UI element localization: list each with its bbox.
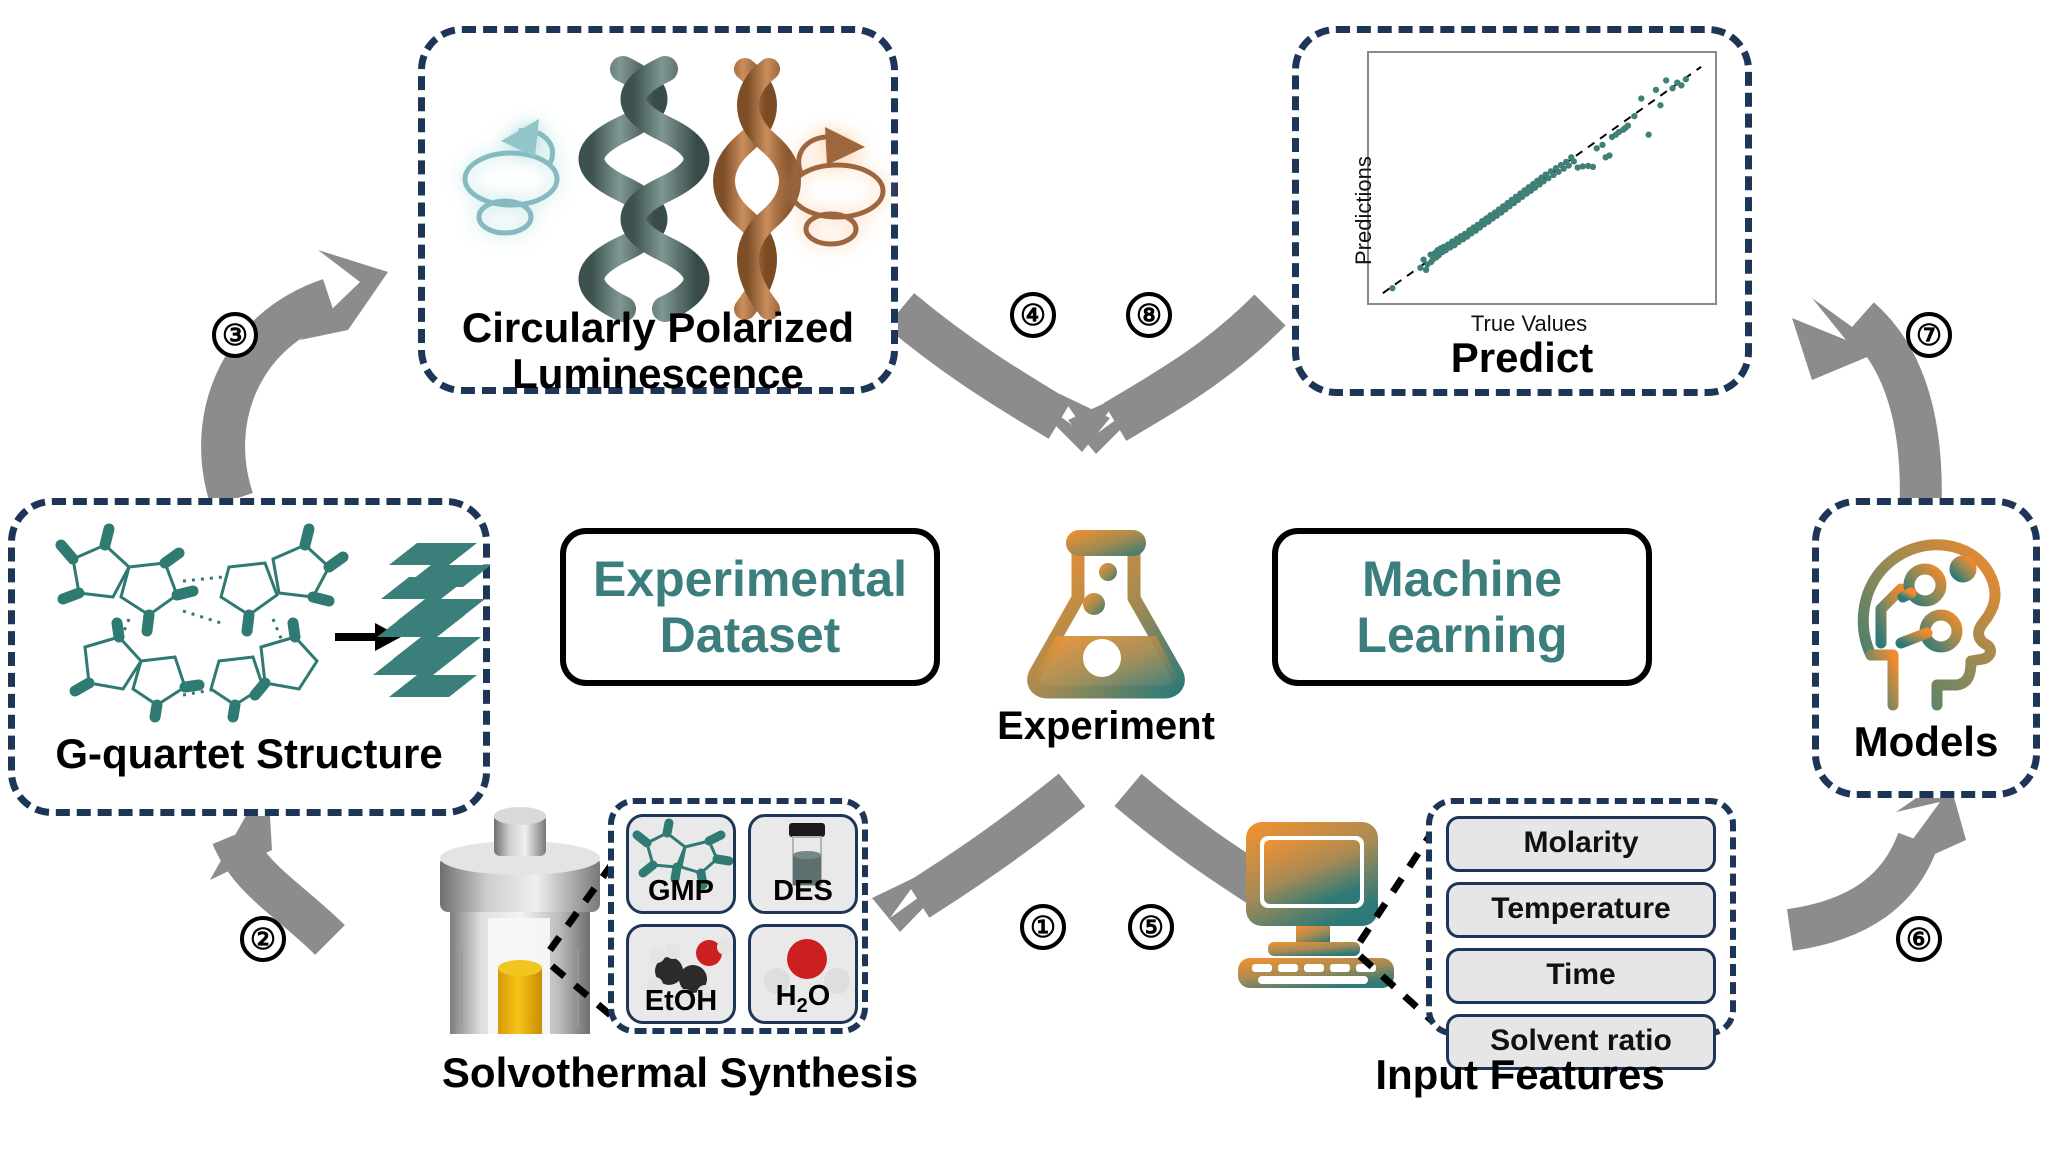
- arrow-step-7-head: [1792, 298, 1884, 380]
- step-badge-5: ⑤: [1128, 904, 1174, 950]
- solvothermal-synthesis-group: GMP DES: [400, 790, 960, 1130]
- step-badge-4: ④: [1010, 292, 1056, 338]
- right-spiral-arrow-icon: [791, 127, 883, 244]
- scatter-points: [1389, 76, 1689, 291]
- scatter-point: [1657, 102, 1663, 108]
- panel-caption-cpl: Circularly Polarized Luminescence: [425, 305, 891, 397]
- step-badge-1: ①: [1020, 904, 1066, 950]
- chem-label-etoh: EtOH: [629, 985, 733, 1018]
- feature-pill-molarity[interactable]: Molarity: [1446, 816, 1716, 872]
- arrow-step-8-head: [1068, 382, 1168, 454]
- scatter-point: [1389, 285, 1395, 291]
- input-features-group: MolarityTemperatureTimeSolvent ratio Inp…: [1210, 790, 1830, 1130]
- scatter-point: [1683, 76, 1689, 82]
- feature-pill-time[interactable]: Time: [1446, 948, 1716, 1004]
- chem-label-des: DES: [751, 875, 855, 908]
- feature-list: MolarityTemperatureTimeSolvent ratio: [1446, 816, 1716, 1080]
- scatter-point: [1631, 113, 1637, 119]
- panel-caption-g-quartet: G-quartet Structure: [15, 731, 483, 777]
- scatter-point: [1590, 164, 1596, 170]
- step-badge-6: ⑥: [1896, 916, 1942, 962]
- reactor-liquid: [498, 968, 542, 1034]
- scatter-point: [1625, 122, 1631, 128]
- g-quartet-illustration: [33, 519, 479, 719]
- machine-learning-line1: Machine: [1356, 551, 1567, 607]
- experiment-caption: Experiment: [976, 704, 1236, 748]
- scatter-point: [1566, 162, 1572, 168]
- panel-circularly-polarized-luminescence: Circularly Polarized Luminescence: [418, 26, 898, 394]
- experimental-dataset-box: Experimental Dataset: [560, 528, 940, 686]
- panel-caption-models: Models: [1819, 719, 2033, 765]
- experimental-dataset-line2: Dataset: [593, 607, 907, 663]
- left-spiral-arrow-icon: [465, 119, 557, 233]
- workflow-diagram: Circularly Polarized Luminescence Predic…: [0, 0, 2048, 1151]
- scatter-point: [1571, 158, 1577, 164]
- flask-neck: [1066, 530, 1146, 556]
- stacked-layers-icon: [373, 543, 491, 697]
- axis-label-y: Predictions: [1351, 156, 1377, 265]
- step-badge-8: ⑧: [1126, 292, 1172, 338]
- ai-head-circuit-icon: [1841, 523, 2025, 713]
- panel-input-features: MolarityTemperatureTimeSolvent ratio: [1426, 798, 1736, 1036]
- step-badge-2: ②: [240, 916, 286, 962]
- machine-learning-line2: Learning: [1356, 607, 1567, 663]
- g-quartet-molecule-icon: [61, 529, 343, 717]
- step-badge-3: ③: [212, 312, 258, 358]
- step-badge-7: ⑦: [1906, 312, 1952, 358]
- scatter-plot-frame: [1367, 51, 1717, 305]
- scatter-point: [1663, 77, 1669, 83]
- chem-label-water: H2O: [751, 980, 855, 1018]
- cpl-caption-line1: Circularly Polarized: [425, 305, 891, 351]
- green-helix-icon: [592, 69, 697, 309]
- brown-helix-icon: [724, 69, 790, 309]
- panel-caption-input-features: Input Features: [1180, 1052, 1860, 1098]
- autoclave-reactor-icon: [410, 800, 640, 1040]
- chem-card-des[interactable]: DES: [748, 814, 858, 914]
- panel-predict: Predictions True Values Predict: [1292, 26, 1752, 396]
- scatter-point: [1417, 265, 1423, 271]
- experimental-dataset-line1: Experimental: [593, 551, 907, 607]
- desktop-computer-icon: [1218, 814, 1428, 994]
- scatter-point: [1580, 163, 1586, 169]
- scatter-point: [1638, 95, 1644, 101]
- scatter-point: [1669, 85, 1675, 91]
- chem-label-gmp: GMP: [629, 875, 733, 908]
- panel-caption-synthesis: Solvothermal Synthesis: [370, 1050, 990, 1096]
- scatter-point: [1594, 145, 1600, 151]
- panel-caption-predict: Predict: [1299, 335, 1745, 381]
- scatter-point: [1423, 267, 1429, 273]
- panel-g-quartet-structure: G-quartet Structure: [8, 498, 490, 816]
- scatter-point: [1678, 82, 1684, 88]
- panel-models: Models: [1812, 498, 2040, 798]
- flask-bubble-large: [1083, 639, 1121, 677]
- machine-learning-box: Machine Learning: [1272, 528, 1652, 686]
- panel-chemicals: GMP DES: [608, 798, 868, 1034]
- cpl-caption-line2: Luminescence: [425, 351, 891, 397]
- scatter-point: [1645, 132, 1651, 138]
- flask-bubble-mid: [1083, 593, 1105, 615]
- flask-icon: [1016, 512, 1196, 702]
- flask-bubble-small: [1099, 563, 1117, 581]
- chem-card-water[interactable]: H2O: [748, 924, 858, 1024]
- chem-card-etoh[interactable]: EtOH: [626, 924, 736, 1024]
- experiment-group: Experiment: [1016, 512, 1196, 752]
- scatter-point: [1599, 142, 1605, 148]
- scatter-point: [1653, 87, 1659, 93]
- scatter-point: [1606, 152, 1612, 158]
- cpl-illustration: [453, 61, 873, 311]
- arrow-step-4-head: [1010, 380, 1110, 452]
- arrow-step-3-head: [300, 250, 388, 340]
- chem-card-gmp[interactable]: GMP: [626, 814, 736, 914]
- scatter-plot-icon: [1369, 53, 1715, 303]
- feature-pill-temperature[interactable]: Temperature: [1446, 882, 1716, 938]
